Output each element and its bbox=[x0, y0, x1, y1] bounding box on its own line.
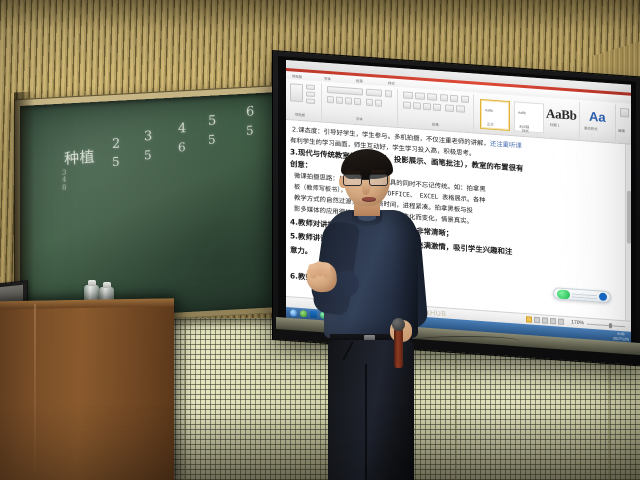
style-preview-no-spacing[interactable]: AaBb 无间隔 bbox=[514, 101, 544, 133]
chalkboard-small-note: 3 4 8 bbox=[62, 169, 67, 191]
ribbon-group-label: 字体 bbox=[356, 116, 363, 121]
find-icon[interactable] bbox=[620, 108, 629, 118]
chalkboard-surface: 种植 2 5 3 5 4 6 5 5 6 5 3 4 8 bbox=[20, 92, 279, 321]
zoom-level-label[interactable]: 170% bbox=[571, 319, 584, 326]
ribbon-tab-label[interactable]: 字体 bbox=[324, 76, 331, 81]
ribbon-group-change-styles[interactable]: Aa 更改样式 bbox=[582, 102, 616, 140]
chalkboard: 种植 2 5 3 5 4 6 5 5 6 5 3 4 8 bbox=[14, 85, 286, 328]
ribbon-group-editing[interactable]: 编辑 bbox=[618, 105, 631, 142]
ribbon-group-label: 样式 bbox=[522, 128, 529, 133]
bullets-icon[interactable] bbox=[403, 91, 413, 99]
presenter-mouth bbox=[362, 197, 376, 202]
chalk-fraction-numerator: 5 bbox=[208, 113, 217, 128]
chalk-fraction-denominator: 5 bbox=[246, 123, 254, 137]
ceiling-shadow bbox=[0, 0, 640, 30]
bottle-cap bbox=[103, 282, 111, 288]
sort-icon[interactable] bbox=[461, 96, 469, 104]
bold-icon[interactable] bbox=[327, 96, 334, 104]
italic-icon[interactable] bbox=[336, 97, 343, 105]
justify-icon[interactable] bbox=[433, 104, 441, 112]
glasses-lens-left bbox=[343, 174, 362, 186]
widget-action-icon[interactable] bbox=[599, 292, 607, 301]
start-icon[interactable] bbox=[290, 309, 297, 317]
font-family-select[interactable] bbox=[327, 86, 363, 96]
zoom-slider[interactable] bbox=[587, 323, 625, 327]
style-preview-text: AaBb bbox=[518, 111, 526, 116]
print-layout-view-icon[interactable] bbox=[526, 316, 532, 322]
increase-indent-icon[interactable] bbox=[450, 95, 458, 103]
presenter-eyebrow bbox=[371, 170, 386, 173]
trouser-leg-seam bbox=[365, 364, 367, 480]
numbering-icon[interactable] bbox=[415, 92, 425, 100]
full-screen-reading-icon[interactable] bbox=[534, 317, 540, 323]
ribbon-group-label: 剪贴板 bbox=[295, 112, 305, 118]
chalk-fraction-denominator: 6 bbox=[178, 140, 186, 154]
document-line: 意力。 bbox=[290, 244, 312, 257]
wall-panel-seam bbox=[184, 318, 186, 480]
browser-icon[interactable] bbox=[300, 310, 307, 318]
style-name: 标题 1 bbox=[550, 122, 560, 128]
chalk-fraction-denominator: 5 bbox=[112, 155, 120, 169]
decrease-indent-icon[interactable] bbox=[440, 94, 448, 102]
text-highlight-icon[interactable] bbox=[366, 99, 373, 107]
align-left-icon[interactable] bbox=[403, 101, 411, 109]
chalkboard-word: 种植 bbox=[64, 145, 96, 169]
view-mode-buttons[interactable] bbox=[526, 316, 564, 325]
document-line: 创意： bbox=[290, 158, 312, 171]
style-preview-text: AaBb bbox=[485, 108, 493, 113]
folder-icon[interactable] bbox=[310, 311, 317, 319]
ribbon-group-styles[interactable]: AaBb 正文 AaBb 无间隔 AaBb 标题 1 样式 bbox=[476, 95, 580, 138]
ribbon-tab-label[interactable]: 剪贴板 bbox=[292, 73, 302, 79]
web-layout-view-icon[interactable] bbox=[542, 317, 548, 323]
style-preview-normal[interactable]: AaBb 正文 bbox=[480, 99, 510, 131]
podium-panel-edge bbox=[34, 304, 36, 480]
finger bbox=[323, 262, 331, 277]
chalk-fraction-denominator: 5 bbox=[144, 148, 152, 162]
style-name: 正文 bbox=[487, 121, 494, 126]
multilevel-list-icon[interactable] bbox=[427, 93, 437, 101]
align-center-icon[interactable] bbox=[413, 102, 421, 110]
font-size-select[interactable] bbox=[366, 89, 382, 97]
line-spacing-icon[interactable] bbox=[445, 104, 454, 112]
grow-font-icon[interactable] bbox=[385, 90, 392, 98]
microphone-head bbox=[392, 318, 405, 331]
document-line-tail: 还注重听课 bbox=[490, 140, 522, 150]
chalk-fraction-numerator: 4 bbox=[178, 121, 187, 136]
chalk-fraction-numerator: 2 bbox=[112, 137, 121, 152]
shading-icon[interactable] bbox=[456, 105, 465, 113]
floating-toolbar-widget[interactable] bbox=[553, 287, 611, 303]
cut-icon[interactable] bbox=[306, 84, 315, 90]
draft-view-icon[interactable] bbox=[558, 319, 564, 325]
ribbon-group-clipboard[interactable]: 剪贴板 bbox=[288, 81, 322, 119]
bottle-cap bbox=[88, 280, 96, 286]
podium bbox=[0, 298, 174, 480]
strikethrough-icon[interactable] bbox=[354, 98, 361, 106]
paste-icon[interactable] bbox=[290, 83, 303, 102]
presenter-nose bbox=[362, 184, 370, 195]
chalk-fraction-denominator: 5 bbox=[208, 132, 216, 146]
align-right-icon[interactable] bbox=[423, 103, 431, 111]
format-painter-icon[interactable] bbox=[306, 98, 315, 104]
ribbon-group-label: 段落 bbox=[432, 121, 439, 126]
ribbon-tab-label[interactable]: 段落 bbox=[356, 78, 363, 83]
glasses-lens-right bbox=[369, 174, 388, 186]
ribbon-tab-label[interactable]: 样式 bbox=[388, 80, 395, 85]
wireless-microphone[interactable] bbox=[394, 328, 403, 368]
ribbon-group-label: 编辑 bbox=[618, 128, 625, 133]
copy-icon[interactable] bbox=[306, 91, 315, 97]
font-color-icon[interactable] bbox=[375, 99, 382, 107]
chalk-fraction-numerator: 3 bbox=[144, 129, 153, 144]
underline-icon[interactable] bbox=[345, 97, 352, 105]
record-status-icon[interactable] bbox=[557, 289, 570, 299]
presenter-gesturing-hand bbox=[306, 261, 338, 293]
change-styles-label: 更改样式 bbox=[584, 125, 598, 131]
presenter bbox=[318, 152, 442, 480]
ribbon-group-paragraph[interactable]: 段落 bbox=[400, 89, 474, 130]
vertical-scrollbar[interactable] bbox=[625, 144, 631, 320]
chalk-fraction-numerator: 6 bbox=[246, 104, 255, 119]
classroom-photo: 种植 2 5 3 5 4 6 5 5 6 5 3 4 8 bbox=[0, 0, 640, 480]
scrollbar-thumb[interactable] bbox=[627, 190, 631, 243]
outline-view-icon[interactable] bbox=[550, 318, 556, 324]
change-styles-icon[interactable]: Aa bbox=[589, 109, 606, 125]
glasses-bridge bbox=[362, 179, 369, 180]
ribbon-group-font[interactable]: 字体 bbox=[324, 84, 398, 125]
widget-text bbox=[572, 292, 597, 300]
